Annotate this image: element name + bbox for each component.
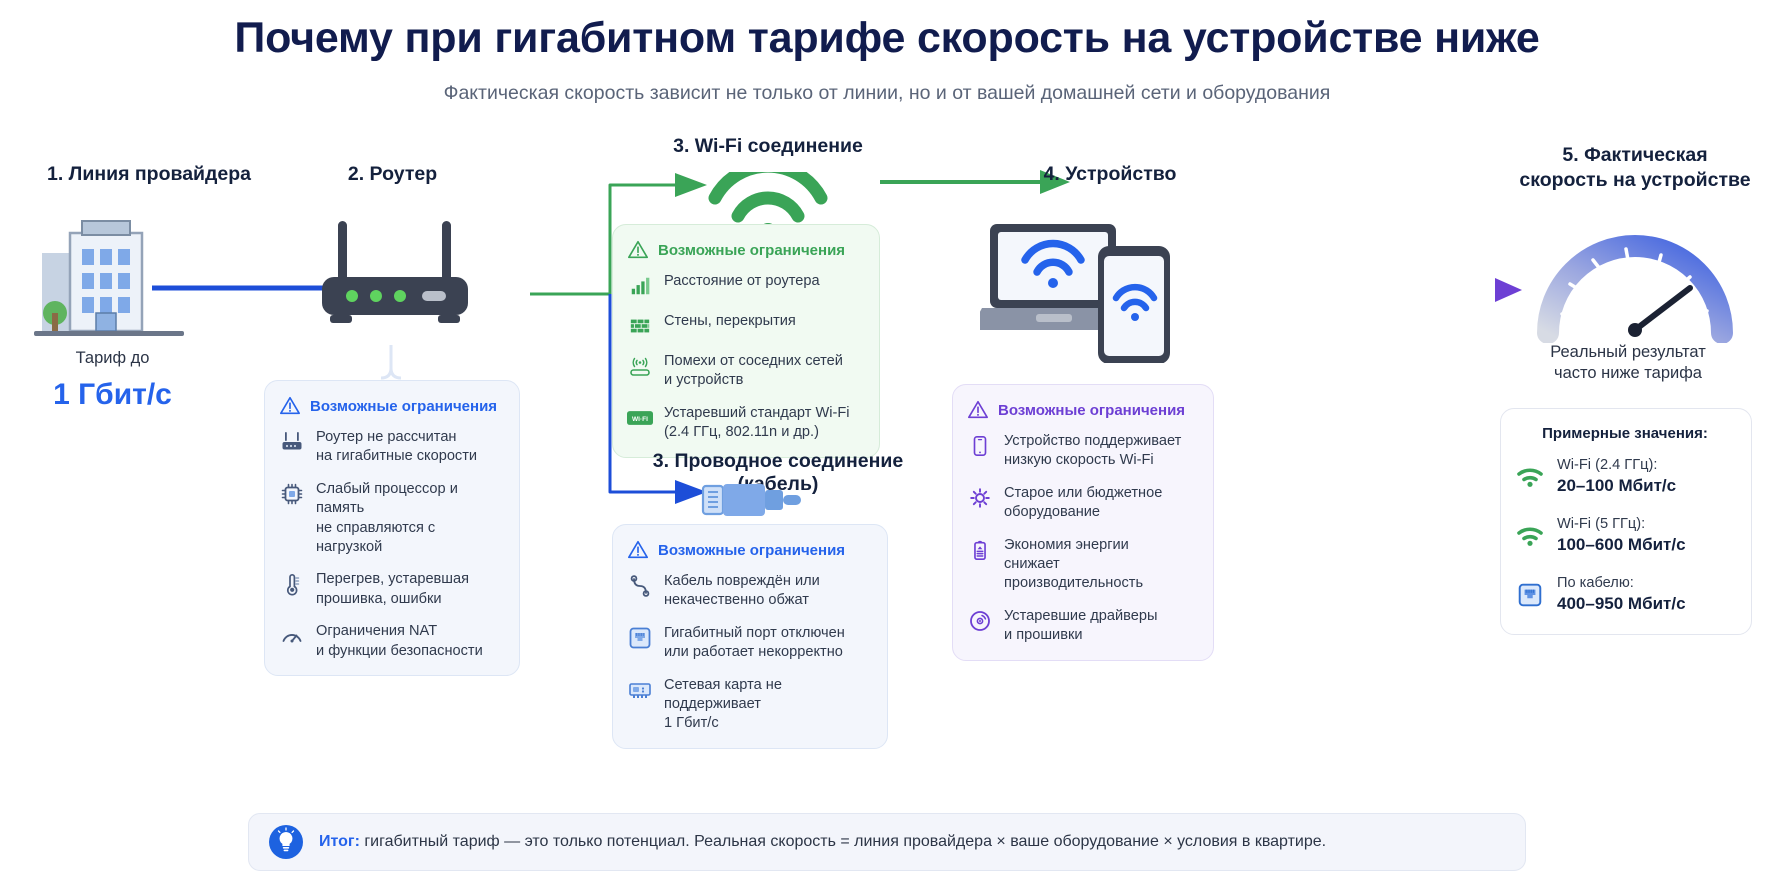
step-label-result: 5. Фактическая скорость на устройстве [1510,143,1760,193]
network-card-icon [627,677,653,703]
smartphone-icon [967,433,993,459]
list-item-text: Перегрев, устаревшая прошивка, ошибки [316,570,469,609]
list-item: Расстояние от роутера [627,272,863,299]
step-label-wifi: 3. Wi-Fi соединение [618,135,918,158]
value-label: Wi-Fi (5 ГГц): [1557,516,1645,532]
warning-triangle-icon [967,399,989,421]
card-heading: Возможные ограничения [967,399,1197,421]
value-number: 400–950 Мбит/с [1557,594,1686,613]
card-heading: Возможные ограничения [627,539,871,561]
list-item: Гигабитный порт отключен или работает не… [627,624,871,663]
cable-limitations-card: Возможные ограничения Кабель повреждён и… [612,524,888,749]
result-caption: Реальный результат часто ниже тарифа [1490,342,1766,385]
approximate-values-card: Примерные значения: Wi-Fi (2.4 ГГц): 20–… [1500,408,1752,635]
list-item-text: Экономия энергии снижает производительно… [1004,536,1197,594]
value-row: Wi-Fi (2.4 ГГц): 20–100 Мбит/с [1515,456,1735,498]
summary-label: Итог: [319,833,360,850]
lightbulb-icon [267,823,305,861]
warning-triangle-icon [279,395,301,417]
list-item-text: Гигабитный порт отключен или работает не… [664,624,845,663]
wifi-icon [1515,466,1545,488]
card-heading: Возможные ограничения [279,395,503,417]
interference-icon [627,353,653,379]
ethernet-port-icon [1515,582,1545,608]
router-icon [279,429,305,455]
step-label-device: 4. Устройство [1000,163,1220,186]
list-item: Стены, перекрытия [627,312,863,339]
wifi-icon [1515,525,1545,547]
summary-body: гигабитный тариф — это только потенциал.… [364,833,1326,850]
card-heading: Возможные ограничения [627,239,863,261]
list-item-text: Слабый процессор и память не справляются… [316,480,503,558]
summary-text: Итог: гигабитный тариф — это только поте… [319,833,1326,851]
disc-driver-icon [967,608,993,634]
list-item: Устройство поддерживает низкую скорость … [967,432,1197,471]
value-row: Wi-Fi (5 ГГц): 100–600 Мбит/с [1515,515,1735,557]
gauge-icon [279,623,305,649]
laptop-phone-icon [980,218,1195,363]
list-item: Экономия энергии снижает производительно… [967,536,1197,594]
card-heading-text: Возможные ограничения [998,402,1185,419]
list-item: Сетевая карта не поддерживает 1 Гбит/с [627,676,871,734]
list-item-text: Расстояние от роутера [664,272,820,291]
list-item-text: Устройство поддерживает низкую скорость … [1004,432,1181,471]
value-label: Wi-Fi (2.4 ГГц): [1557,457,1657,473]
list-item: Помехи от соседних сетей и устройств [627,352,863,391]
router-device-icon [310,215,480,330]
list-item: WI·FI Устаревший стандарт Wi-Fi (2.4 ГГц… [627,404,863,443]
provider-speed-value: 1 Гбит/с [20,378,205,412]
list-item-text: Старое или бюджетное оборудование [1004,484,1162,523]
ethernet-plug-icon [698,478,808,522]
value-label: По кабелю: [1557,575,1634,591]
step-label-router: 2. Роутер [270,163,515,186]
gear-icon [967,485,993,511]
signal-bars-icon [627,273,653,299]
ethernet-port-icon [627,625,653,651]
list-item: Ограничения NAT и функции безопасности [279,622,503,661]
value-number: 20–100 Мбит/с [1557,476,1676,495]
list-item-text: Сетевая карта не поддерживает 1 Гбит/с [664,676,871,734]
brick-wall-icon [627,313,653,339]
battery-saver-icon [967,537,993,563]
warning-triangle-icon [627,539,649,561]
list-item-text: Помехи от соседних сетей и устройств [664,352,843,391]
list-item: Кабель повреждён или некачественно обжат [627,572,871,611]
list-item-text: Роутер не рассчитан на гигабитные скорос… [316,428,477,467]
cable-break-icon [627,573,653,599]
card-heading-text: Возможные ограничения [658,242,845,259]
svg-text:WI·FI: WI·FI [632,416,648,423]
card-heading-text: Возможные ограничения [310,398,497,415]
card-heading-text: Возможные ограничения [658,542,845,559]
page-title: Почему при гигабитном тарифе скорость на… [0,14,1774,63]
list-item: Роутер не рассчитан на гигабитные скорос… [279,428,503,467]
page-subtitle: Фактическая скорость зависит не только о… [0,82,1774,105]
list-item-text: Кабель повреждён или некачественно обжат [664,572,820,611]
list-item: Перегрев, устаревшая прошивка, ошибки [279,570,503,609]
list-item: Устаревшие драйверы и прошивки [967,607,1197,646]
list-item-text: Устаревшие драйверы и прошивки [1004,607,1157,646]
speedometer-icon [1530,218,1740,343]
step-label-provider: 1. Линия провайдера [14,163,284,186]
value-row: По кабелю: 400–950 Мбит/с [1515,574,1735,616]
warning-triangle-icon [627,239,649,261]
provider-caption: Тариф до [20,348,205,369]
wifi-badge-icon: WI·FI [627,405,653,431]
values-card-title: Примерные значения: [1515,425,1735,442]
building-icon [30,215,190,340]
value-number: 100–600 Мбит/с [1557,535,1686,554]
infographic-root: Почему при гигабитном тарифе скорость на… [0,0,1774,887]
thermometer-icon [279,571,305,597]
cpu-chip-icon [279,481,305,507]
router-limitations-card: Возможные ограничения Роутер не рассчита… [264,380,520,676]
list-item-text: Стены, перекрытия [664,312,796,331]
device-limitations-card: Возможные ограничения Устройство поддерж… [952,384,1214,661]
list-item: Слабый процессор и память не справляются… [279,480,503,558]
list-item-text: Ограничения NAT и функции безопасности [316,622,483,661]
list-item-text: Устаревший стандарт Wi-Fi (2.4 ГГц, 802.… [664,404,849,443]
summary-bar: Итог: гигабитный тариф — это только поте… [248,813,1526,871]
wifi-limitations-card: Возможные ограничения Расстояние от роут… [612,224,880,458]
list-item: Старое или бюджетное оборудование [967,484,1197,523]
